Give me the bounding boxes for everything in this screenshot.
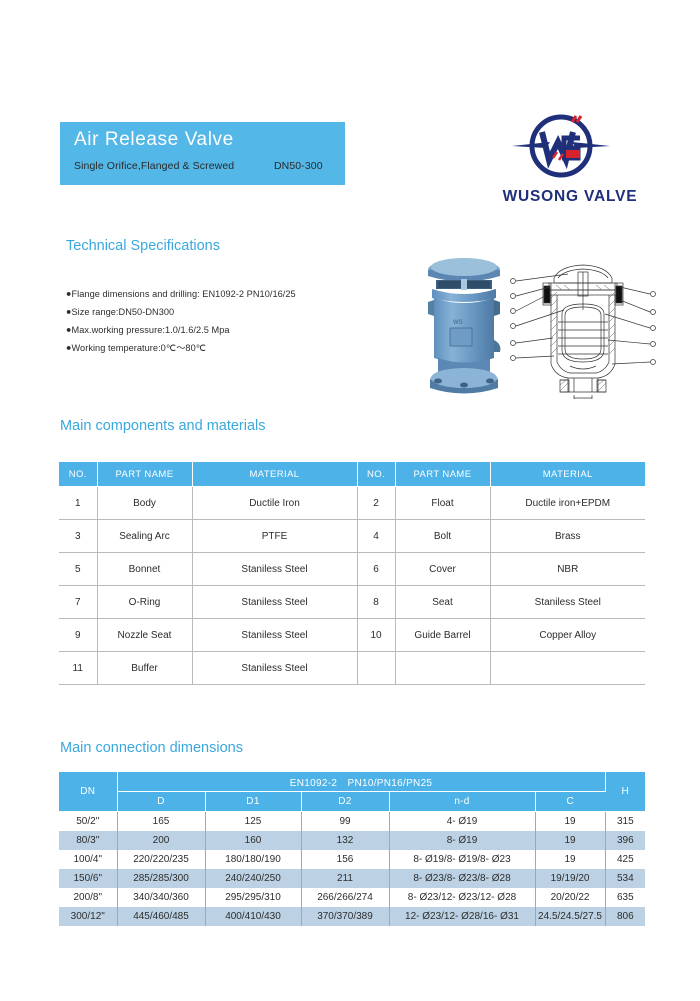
cell-part-name: Bolt [395,520,490,553]
spec-text: Max.working pressure:1.0/1.6/2.5 Mpa [72,325,230,335]
table-header-row-sub: D D1 D2 n-d C [59,792,645,812]
table-row: 50/2" 165 125 99 4- Ø19 19 315 [59,812,645,832]
cell-dn: 100/4" [59,850,117,869]
cell-c: 24.5/24.5/27.5 [535,907,605,926]
cell-h: 635 [605,888,645,907]
column-header-dn: DN [59,772,117,812]
page-title: Air Release Valve [74,129,234,151]
valve-photo: WS [414,254,514,400]
cell-no: 10 [357,619,395,652]
column-header-h: H [605,772,645,812]
dimensions-table: DN EN1092-2 PN10/PN16/PN25 H D D1 D2 n-d… [59,772,645,926]
spec-item: ●Working temperature:0℃～80℃ [66,339,366,357]
cell-c: 19 [535,812,605,832]
table-row: 80/3" 200 160 132 8- Ø19 19 396 [59,831,645,850]
bullet-icon: ● [66,321,72,339]
cell-d2: 211 [301,869,389,888]
table-header-row: NO. PART NAME MATERIAL NO. PART NAME MAT… [59,462,645,487]
column-header-part-name-right: PART NAME [395,462,490,487]
column-header-nd: n-d [389,792,535,812]
banner-size-range: DN50-300 [274,160,323,172]
wusong-logo-icon [506,112,616,184]
column-header-no-left: NO. [59,462,97,487]
cell-no: 8 [357,586,395,619]
cell-material: Staniless Steel [192,652,357,685]
cell-d1: 400/410/430 [205,907,301,926]
cell-d: 220/220/235 [117,850,205,869]
section-heading-technical-specifications: Technical Specifications [66,238,220,254]
cell-d1: 125 [205,812,301,832]
cell-d: 445/460/485 [117,907,205,926]
table-row: 3 Sealing Arc PTFE 4 Bolt Brass [59,520,645,553]
column-header-d2: D2 [301,792,389,812]
cell-h: 806 [605,907,645,926]
spec-item: ●Size range:DN50-DN300 [66,303,366,321]
cell-d: 285/285/300 [117,869,205,888]
cell-no: 2 [357,487,395,520]
cell-material: Ductile iron+EPDM [490,487,645,520]
table-row: 9 Nozzle Seat Staniless Steel 10 Guide B… [59,619,645,652]
spec-item: ●Flange dimensions and drilling: EN1092-… [66,285,366,303]
cell-c: 19 [535,831,605,850]
column-header-c: C [535,792,605,812]
column-header-d1: D1 [205,792,301,812]
cell-part-name: Cover [395,553,490,586]
cell-d1: 240/240/250 [205,869,301,888]
cell-part-name: Nozzle Seat [97,619,192,652]
technical-specifications-list: ●Flange dimensions and drilling: EN1092-… [66,285,366,357]
cell-part-name: Float [395,487,490,520]
cell-material: Brass [490,520,645,553]
cell-nd: 12- Ø23/12- Ø28/16- Ø31 [389,907,535,926]
table-row: 11 Buffer Staniless Steel [59,652,645,685]
column-header-no-right: NO. [357,462,395,487]
cell-part-name: O-Ring [97,586,192,619]
table-row: 1 Body Ductile Iron 2 Float Ductile iron… [59,487,645,520]
cell-no [357,652,395,685]
column-header-material-left: MATERIAL [192,462,357,487]
components-table: NO. PART NAME MATERIAL NO. PART NAME MAT… [59,462,645,685]
cell-part-name: Sealing Arc [97,520,192,553]
cell-nd: 8- Ø23/12- Ø23/12- Ø28 [389,888,535,907]
cell-material: NBR [490,553,645,586]
cell-material: Copper Alloy [490,619,645,652]
cell-d2: 266/266/274 [301,888,389,907]
cell-part-name: Guide Barrel [395,619,490,652]
cell-d1: 295/295/310 [205,888,301,907]
svg-text:WS: WS [453,320,463,326]
cell-material: PTFE [192,520,357,553]
cell-dn: 80/3" [59,831,117,850]
cell-nd: 8- Ø23/8- Ø23/8- Ø28 [389,869,535,888]
table-row: 7 O-Ring Staniless Steel 8 Seat Staniles… [59,586,645,619]
cell-d: 340/340/360 [117,888,205,907]
cell-material: Staniless Steel [192,619,357,652]
cell-dn: 200/8" [59,888,117,907]
column-header-material-right: MATERIAL [490,462,645,487]
cell-no: 5 [59,553,97,586]
company-logo: WUSONG VALVE [480,112,660,217]
column-header-d: D [117,792,205,812]
spec-text: Size range:DN50-DN300 [72,307,175,317]
cell-no: 3 [59,520,97,553]
cell-h: 315 [605,812,645,832]
header-banner: Air Release Valve Single Orifice,Flanged… [60,122,345,185]
logo-wordmark: WUSONG VALVE [480,188,660,206]
cell-h: 425 [605,850,645,869]
cell-material: Staniless Steel [490,586,645,619]
cell-material: Staniless Steel [192,586,357,619]
cell-dn: 150/6" [59,869,117,888]
bullet-icon: ● [66,303,72,321]
cell-h: 396 [605,831,645,850]
cell-material: Ductile Iron [192,487,357,520]
section-heading-dimensions: Main connection dimensions [60,740,243,756]
cell-no: 4 [357,520,395,553]
cell-d: 165 [117,812,205,832]
cell-c: 19/19/20 [535,869,605,888]
table-row: 300/12" 445/460/485 400/410/430 370/370/… [59,907,645,926]
cell-d: 200 [117,831,205,850]
cell-nd: 4- Ø19 [389,812,535,832]
spec-item: ●Max.working pressure:1.0/1.6/2.5 Mpa [66,321,366,339]
cell-part-name: Bonnet [97,553,192,586]
column-header-part-name-left: PART NAME [97,462,192,487]
cell-no: 9 [59,619,97,652]
bullet-icon: ● [66,339,72,357]
cell-material: Staniless Steel [192,553,357,586]
cell-c: 20/20/22 [535,888,605,907]
banner-subtitle: Single Orifice,Flanged & Screwed [74,160,234,172]
cell-part-name: Seat [395,586,490,619]
table-row: 200/8" 340/340/360 295/295/310 266/266/2… [59,888,645,907]
section-heading-components: Main components and materials [60,418,266,434]
cell-d2: 156 [301,850,389,869]
spec-text: Working temperature:0℃～80℃ [72,343,207,353]
table-row: 150/6" 285/285/300 240/240/250 211 8- Ø2… [59,869,645,888]
cell-dn: 50/2" [59,812,117,832]
cell-part-name: Body [97,487,192,520]
cell-d1: 160 [205,831,301,850]
product-imagery: WS [408,252,658,400]
cell-no: 7 [59,586,97,619]
cell-nd: 8- Ø19 [389,831,535,850]
cell-no: 6 [357,553,395,586]
cell-material [490,652,645,685]
cell-dn: 300/12" [59,907,117,926]
valve-cross-section-drawing [508,252,658,400]
cell-d2: 370/370/389 [301,907,389,926]
table-row: 5 Bonnet Staniless Steel 6 Cover NBR [59,553,645,586]
cell-part-name: Buffer [97,652,192,685]
table-header-row-top: DN EN1092-2 PN10/PN16/PN25 H [59,772,645,792]
cell-h: 534 [605,869,645,888]
cell-part-name [395,652,490,685]
table-row: 100/4" 220/220/235 180/180/190 156 8- Ø1… [59,850,645,869]
cell-d2: 99 [301,812,389,832]
cell-d1: 180/180/190 [205,850,301,869]
cell-nd: 8- Ø19/8- Ø19/8- Ø23 [389,850,535,869]
column-header-standard-group: EN1092-2 PN10/PN16/PN25 [117,772,605,792]
bullet-icon: ● [66,285,72,303]
cell-c: 19 [535,850,605,869]
cell-no: 1 [59,487,97,520]
cell-d2: 132 [301,831,389,850]
spec-text: Flange dimensions and drilling: EN1092-2… [72,289,296,299]
cell-no: 11 [59,652,97,685]
